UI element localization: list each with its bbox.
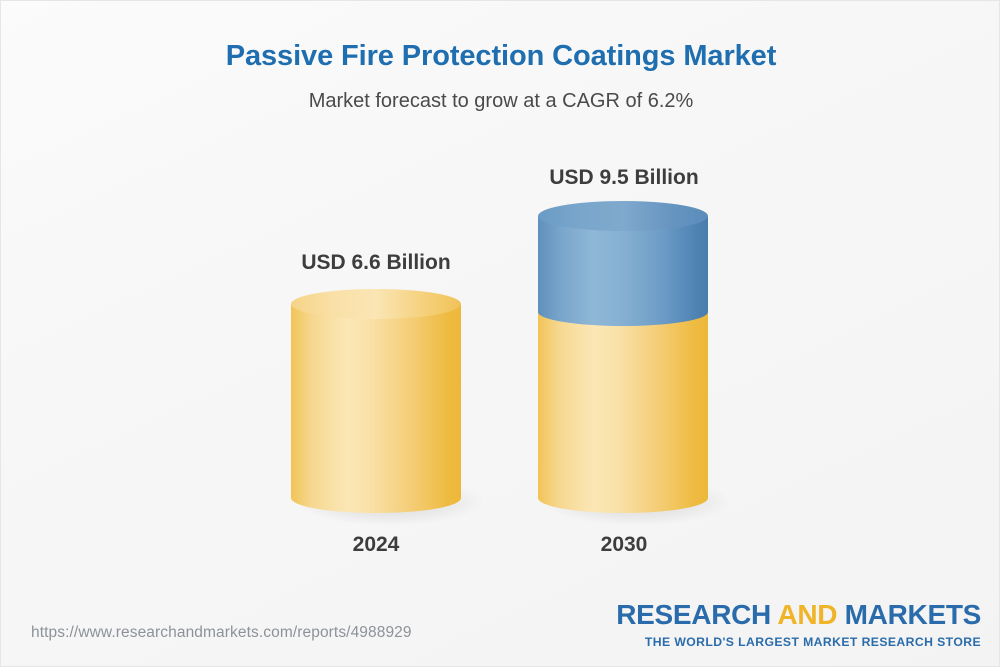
brand-name-part1: RESEARCH	[616, 599, 771, 630]
report-url[interactable]: https://www.researchandmarkets.com/repor…	[31, 624, 412, 642]
bar-value-label-2030: USD 9.5 Billion	[474, 166, 774, 190]
bar-cylinder-2024[interactable]	[291, 289, 461, 513]
brand-name: RESEARCH AND MARKETS	[616, 601, 981, 629]
bar-value-label-2024: USD 6.6 Billion	[226, 251, 526, 275]
bar-category-label-2030: 2030	[474, 533, 774, 557]
brand-name-part2: MARKETS	[845, 599, 981, 630]
bar-top-ellipse-2030	[538, 201, 708, 231]
bar-segment-base-2030	[538, 298, 708, 498]
chart-plot-area: USD 6.6 Billion 2024 USD 9.5 Billion 203…	[1, 1, 1000, 667]
bar-segment-base-2024	[291, 304, 461, 498]
infographic-canvas: Passive Fire Protection Coatings Market …	[0, 0, 1000, 667]
brand-name-accent: AND	[777, 599, 837, 630]
bar-top-ellipse-2024	[291, 289, 461, 319]
brand-tagline: THE WORLD'S LARGEST MARKET RESEARCH STOR…	[616, 629, 981, 648]
brand-logo[interactable]: RESEARCH AND MARKETS THE WORLD'S LARGEST…	[616, 601, 981, 648]
bar-cylinder-2030[interactable]	[538, 201, 708, 513]
